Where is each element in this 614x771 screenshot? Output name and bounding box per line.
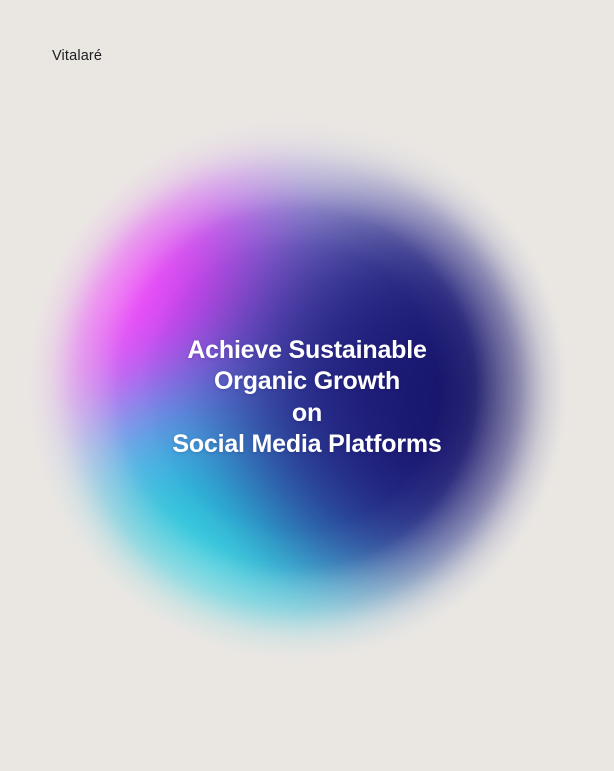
headline-line-2: Organic Growth <box>0 366 614 398</box>
cover-page: Vitalaré Achieve Sustainable Organic Gro… <box>0 0 614 771</box>
brand-logo: Vitalaré <box>52 48 102 65</box>
headline-line-3: on <box>0 398 614 430</box>
page-title: Achieve Sustainable Organic Growth on So… <box>0 335 614 461</box>
headline-line-4: Social Media Platforms <box>0 429 614 461</box>
headline-line-1: Achieve Sustainable <box>0 335 614 367</box>
